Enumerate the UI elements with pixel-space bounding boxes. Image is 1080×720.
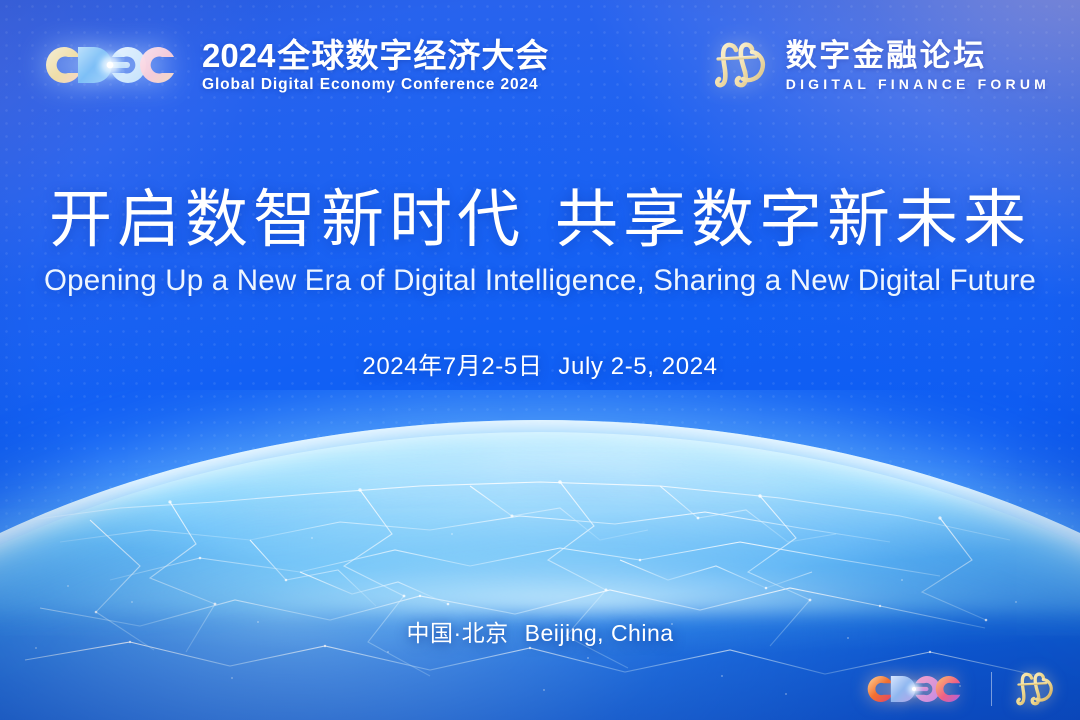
conference-backdrop: 2024全球数字经济大会 Global Digital Economy Conf… [0, 0, 1080, 720]
headline-cn-part2: 共享数字新未来 [555, 185, 1031, 255]
dff-title-block: 数字金融论坛 DIGITAL FINANCE FORUM [786, 40, 1050, 91]
dff-brand-lockup: 数字金融论坛 DIGITAL FINANCE FORUM [712, 39, 1050, 91]
dateline: 2024年7月2-5日July 2-5, 2024 [0, 346, 1080, 381]
location-cn: 中国·北京 [406, 620, 508, 646]
footer-divider [991, 672, 992, 706]
headline-cn-part1: 开启数智新时代 [49, 185, 525, 255]
location-line: 中国·北京Beijing, China [0, 614, 1080, 648]
headline-cn: 开启数智新时代共享数字新未来 [0, 186, 1080, 254]
dff-title-en: DIGITAL FINANCE FORUM [786, 77, 1050, 91]
gdec-logo-footer-icon [859, 671, 969, 707]
conference-title-cn-text: 全球数字经济大会 [277, 37, 549, 74]
conference-title-cn: 2024全球数字经济大会 [202, 39, 549, 72]
header: 2024全球数字经济大会 Global Digital Economy Conf… [0, 0, 1080, 130]
conference-title-en: Global Digital Economy Conference 2024 [202, 77, 549, 93]
gdec-logo-icon [34, 41, 186, 89]
date-cn: 2024年7月2-5日 [362, 353, 542, 380]
conference-title-year: 2024 [202, 37, 275, 74]
dff-title-cn: 数字金融论坛 [786, 40, 1050, 71]
slogan-block: 开启数智新时代共享数字新未来 Opening Up a New Era of D… [0, 186, 1080, 381]
location-en: Beijing, China [525, 620, 674, 646]
ff-monogram-footer-icon [1014, 670, 1058, 708]
ff-monogram-icon [712, 39, 772, 91]
date-en: July 2-5, 2024 [558, 353, 717, 380]
headline-en: Opening Up a New Era of Digital Intellig… [0, 264, 1080, 298]
footer-logo-marks [859, 670, 1058, 708]
gdec-brand-lockup: 2024全球数字经济大会 Global Digital Economy Conf… [34, 37, 549, 93]
conference-title-block: 2024全球数字经济大会 Global Digital Economy Conf… [202, 37, 549, 93]
